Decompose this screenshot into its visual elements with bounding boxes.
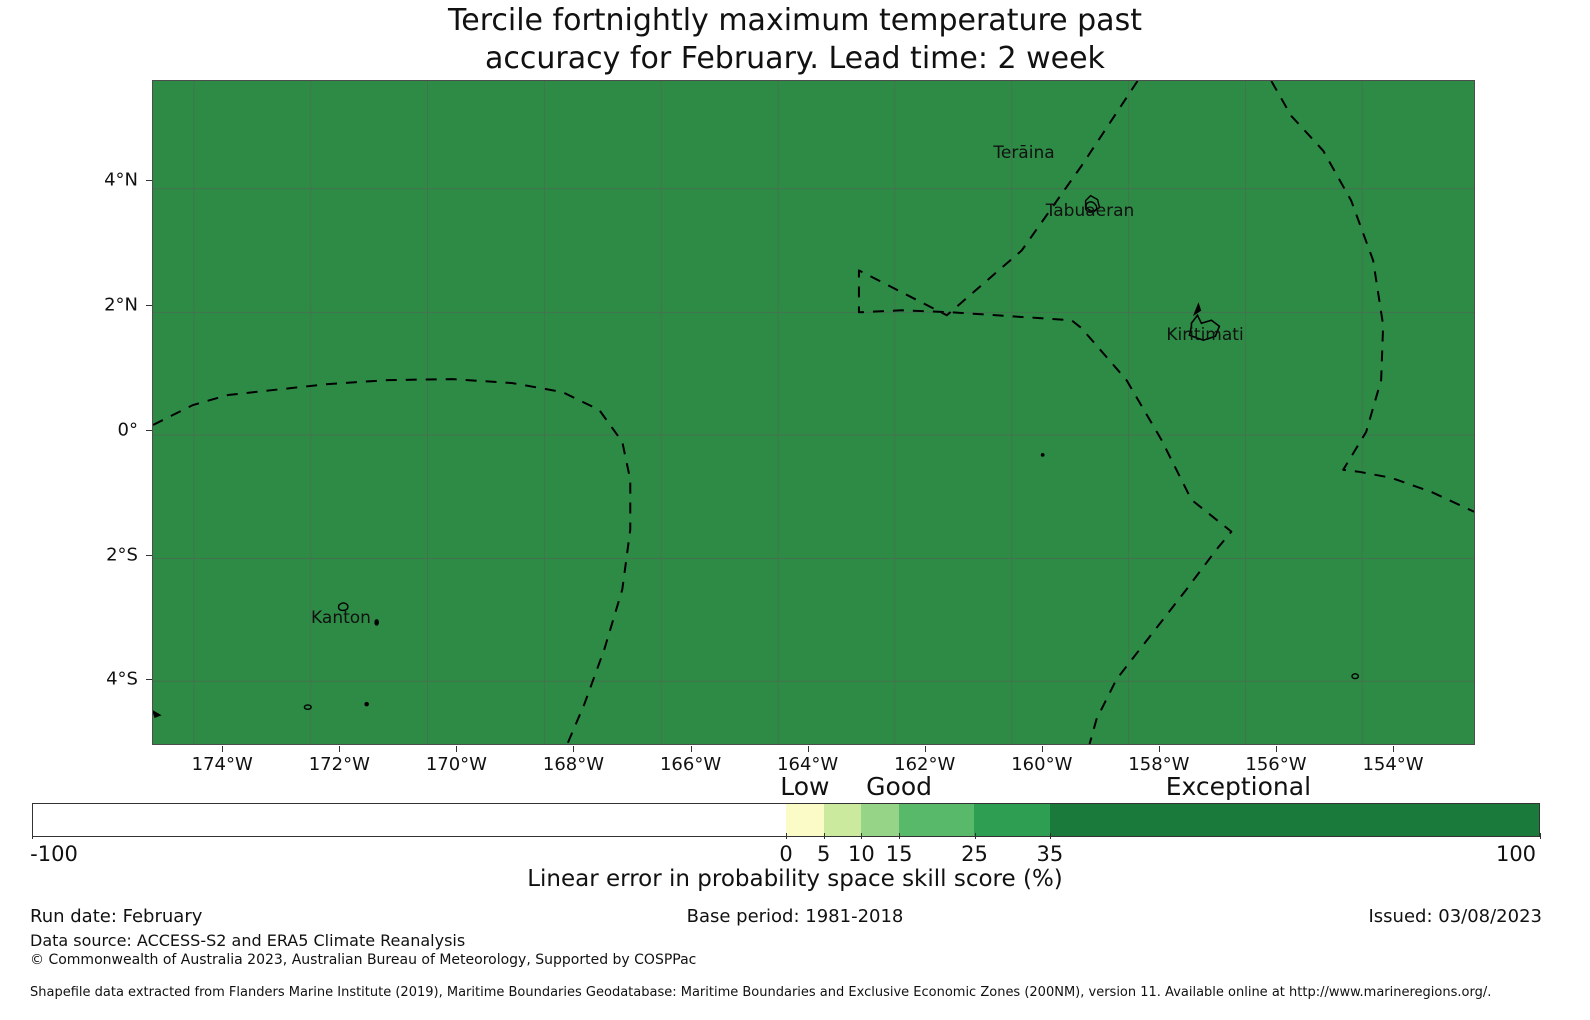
kiritimati-tip [1194,304,1200,314]
colorbar-tick-mark [32,833,33,839]
lon-tick-label: 154°W [1362,754,1423,775]
colorbar-tick-mark [824,833,825,839]
island-dot-1 [375,620,378,625]
island-dot-4 [153,711,160,717]
map-plot-area[interactable]: TerāinaTabuaeranKiritimatiKanton [152,80,1475,745]
lon-tick-label: 160°W [1011,754,1072,775]
colorbar-segment[interactable] [33,804,786,836]
lon-tick-mark [339,746,340,752]
forecast-map-page: Tercile fortnightly maximum temperature … [0,0,1590,1020]
lon-tick-label: 174°W [192,754,253,775]
map-label-kanton: Kanton [311,608,371,628]
lon-tick-label: 170°W [426,754,487,775]
colorbar-title: Linear error in probability space skill … [0,866,1590,892]
lon-tick-mark [456,746,457,752]
colorbar-tick-label: 100 [1496,842,1536,866]
lat-tick-label: 2°N [104,294,138,315]
island-dot-2 [304,705,311,709]
gridlines [153,81,1474,744]
colorbar-tick-mark [899,833,900,839]
colorbar-tick-mark [861,833,862,839]
eez-boundaries [153,81,1474,744]
lon-tick-mark [691,746,692,752]
colorbar-tick-label: 25 [961,842,988,866]
skill-category-label: Exceptional [1166,772,1311,801]
lon-tick-label: 168°W [543,754,604,775]
copyright-notice: © Commonwealth of Australia 2023, Austra… [30,952,696,968]
map-label-kiritimati: Kiritimati [1166,325,1243,345]
lat-tick-label: 4°S [106,669,138,690]
colorbar-segment[interactable] [899,804,974,836]
colorbar-segment[interactable] [824,804,862,836]
lat-tick-label: 0° [118,419,138,440]
lon-tick-label: 172°W [309,754,370,775]
lon-tick-mark [1159,746,1160,752]
colorbar-tick-label: 15 [886,842,913,866]
lon-tick-label: 166°W [660,754,721,775]
colorbar-tick-mark [1050,833,1051,839]
issued-date: Issued: 03/08/2023 [1368,906,1542,927]
map-container[interactable]: TerāinaTabuaeranKiritimatiKanton [152,80,1475,745]
island-dot-3 [365,703,368,706]
island-dot-6 [1041,454,1043,456]
island-outlines [153,196,1358,717]
colorbar-ticks: -1000510152535100 [32,837,1540,867]
data-source: Data source: ACCESS-S2 and ERA5 Climate … [30,931,465,950]
colorbar-tick-label: -100 [30,842,78,866]
skill-category-label: Good [866,772,932,801]
colorbar-tick-mark [975,833,976,839]
lon-tick-mark [1276,746,1277,752]
lon-tick-mark [1393,746,1394,752]
colorbar[interactable] [32,803,1540,837]
island-dot-5 [1352,674,1358,679]
title-line-2: accuracy for February. Lead time: 2 week [0,40,1590,78]
map-graphics [153,81,1474,744]
colorbar-segment[interactable] [861,804,899,836]
lat-tick-label: 4°N [104,169,138,190]
latitude-axis: 4°N2°N0°2°S4°S [0,80,152,745]
colorbar-tick-mark [786,833,787,839]
colorbar-tick-label: 35 [1037,842,1064,866]
skill-category-label: Low [780,772,829,801]
lon-tick-mark [573,746,574,752]
lon-tick-mark [925,746,926,752]
map-label-tabuaeran: Tabuaeran [1046,201,1135,221]
colorbar-tick-label: 0 [779,842,792,866]
base-period: Base period: 1981-2018 [0,906,1590,927]
shapefile-attribution: Shapefile data extracted from Flanders M… [30,985,1491,1000]
map-label-teraina: Terāina [993,143,1054,163]
colorbar-segment[interactable] [786,804,824,836]
colorbar-segment[interactable] [974,804,1049,836]
lon-tick-mark [1042,746,1043,752]
colorbar-segment[interactable] [1050,804,1539,836]
colorbar-tick-mark [1540,833,1541,839]
title-line-1: Tercile fortnightly maximum temperature … [0,2,1590,40]
colorbar-segments[interactable] [32,803,1540,837]
lon-tick-mark [808,746,809,752]
lon-tick-mark [222,746,223,752]
colorbar-tick-label: 10 [848,842,875,866]
colorbar-tick-label: 5 [817,842,830,866]
page-title: Tercile fortnightly maximum temperature … [0,2,1590,78]
lat-tick-label: 2°S [106,544,138,565]
